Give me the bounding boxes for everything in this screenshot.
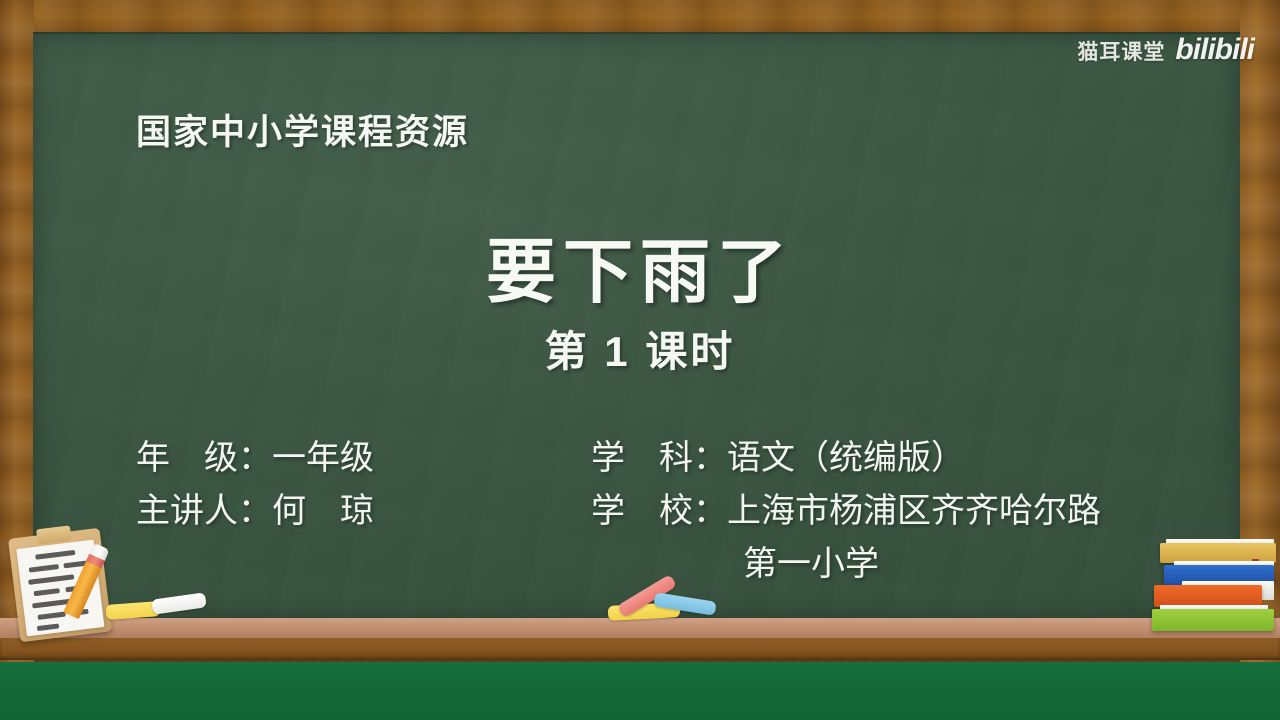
meta-grade: 年 级：一年级 bbox=[136, 432, 591, 485]
background-wall bbox=[0, 658, 1280, 720]
book-cover-orange bbox=[1154, 585, 1262, 607]
lesson-meta: 年 级：一年级 主讲人：何 琼 学 科：语文（统编版） 学 校：上海市杨浦区齐齐… bbox=[136, 432, 1196, 591]
chalk-ledge-front bbox=[0, 638, 1280, 660]
lesson-title: 要下雨了 bbox=[0, 216, 1280, 317]
meta-school-continued: 第一小学 bbox=[591, 538, 1196, 591]
frame-top-rail bbox=[0, 0, 1280, 33]
organization-title: 国家中小学课程资源 bbox=[136, 104, 469, 155]
lesson-period: 第 1 课时 bbox=[0, 318, 1280, 379]
meta-teacher: 主讲人：何 琼 bbox=[136, 485, 591, 538]
watermark-channel-name: 猫耳课堂 bbox=[1077, 36, 1165, 66]
bilibili-logo-icon: bilibili bbox=[1175, 33, 1254, 67]
meta-column-left: 年 级：一年级 主讲人：何 琼 bbox=[136, 432, 591, 591]
slide-cover: 猫耳课堂 bilibili 国家中小学课程资源 要下雨了 第 1 课时 年 级：… bbox=[0, 0, 1280, 720]
book-stack-icon bbox=[1152, 533, 1280, 637]
meta-subject: 学 科：语文（统编版） bbox=[591, 432, 1196, 485]
watermark: 猫耳课堂 bilibili bbox=[1077, 34, 1254, 68]
chalk-ledge-surface bbox=[0, 618, 1280, 638]
meta-school: 学 校：上海市杨浦区齐齐哈尔路 bbox=[591, 485, 1196, 538]
book-cover-green bbox=[1152, 609, 1274, 631]
meta-column-right: 学 科：语文（统编版） 学 校：上海市杨浦区齐齐哈尔路 第一小学 bbox=[591, 432, 1196, 591]
